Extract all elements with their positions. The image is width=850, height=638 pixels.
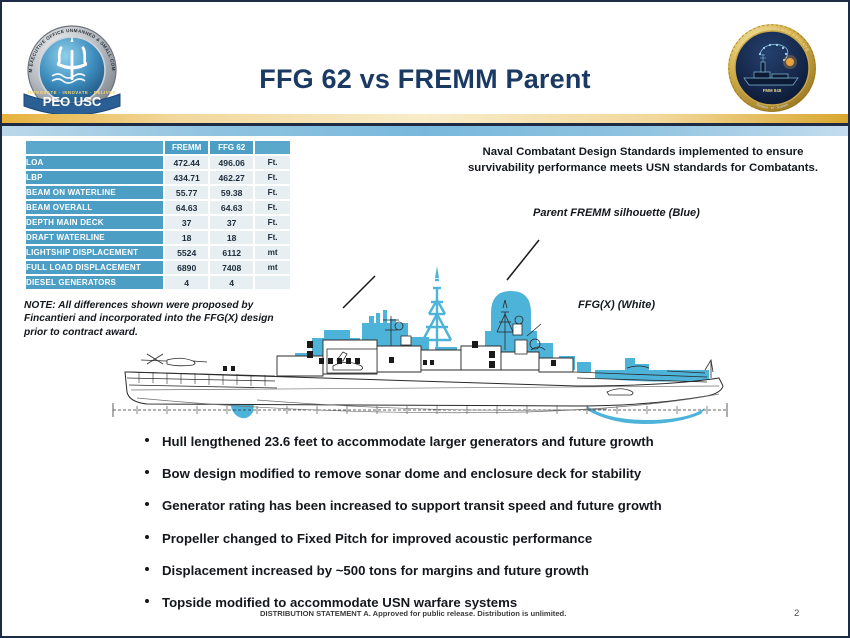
bullet-text: Hull lengthened 23.6 feet to accommodate… [162, 434, 654, 449]
row-unit: Ft. [255, 171, 290, 184]
row-label: LOA [26, 156, 163, 169]
row-fremm: 472.44 [165, 156, 208, 169]
bullet-dot-icon [145, 535, 149, 539]
table-header-ffg62: FFG 62 [210, 141, 253, 154]
bullet-dot-icon [145, 599, 149, 603]
table-header-blank [26, 141, 163, 154]
table-row: BEAM OVERALL 64.63 64.63 Ft. [26, 201, 290, 214]
row-ffg62: 496.06 [210, 156, 253, 169]
bullet-dot-icon [145, 502, 149, 506]
table-row: LOA 472.44 496.06 Ft. [26, 156, 290, 169]
table-header-row: FREMM FFG 62 [26, 141, 290, 154]
row-ffg62: 59.38 [210, 186, 253, 199]
boat-bay [327, 349, 377, 373]
bullet-item: Bow design modified to remove sonar dome… [142, 466, 742, 481]
slide-canvas: PROGRAM EXECUTIVE OFFICE UNMANNED & SMAL… [0, 0, 850, 638]
table-header-fremm: FREMM [165, 141, 208, 154]
row-fremm: 434.71 [165, 171, 208, 184]
bullet-dot-icon [145, 470, 149, 474]
bullet-list: Hull lengthened 23.6 feet to accommodate… [142, 434, 742, 627]
table-row: LBP 434.71 462.27 Ft. [26, 171, 290, 184]
slide-header: PROGRAM EXECUTIVE OFFICE UNMANNED & SMAL… [2, 2, 848, 110]
bullet-text: Generator rating has been increased to s… [162, 498, 662, 513]
row-label: BEAM ON WATERLINE [26, 186, 163, 199]
bullet-text: Topside modified to accommodate USN warf… [162, 595, 517, 610]
row-label: BEAM OVERALL [26, 201, 163, 214]
distribution-statement: DISTRIBUTION STATEMENT A. Approved for p… [260, 609, 680, 618]
table-row: BEAM ON WATERLINE 55.77 59.38 Ft. [26, 186, 290, 199]
row-unit: Ft. [255, 186, 290, 199]
helicopter-icon [141, 354, 207, 366]
blue-divider-band [2, 126, 848, 136]
row-ffg62: 64.63 [210, 201, 253, 214]
svg-text:PEO USC: PEO USC [43, 94, 102, 109]
row-unit: Ft. [255, 156, 290, 169]
callout-ffgx-label: FFG(X) (White) [578, 299, 655, 311]
row-unit: Ft. [255, 201, 290, 214]
bullet-item: Displacement increased by ~500 tons for … [142, 563, 742, 578]
row-fremm: 55.77 [165, 186, 208, 199]
page-title: FFG 62 vs FREMM Parent [2, 64, 848, 95]
gold-divider-band [2, 114, 848, 123]
bullet-dot-icon [145, 567, 149, 571]
row-label: LBP [26, 171, 163, 184]
bullet-text: Propeller changed to Fixed Pitch for imp… [162, 531, 592, 546]
page-number: 2 [794, 608, 799, 619]
bullet-text: Displacement increased by ~500 tons for … [162, 563, 589, 578]
row-ffg62: 462.27 [210, 171, 253, 184]
bullet-item: Generator rating has been increased to s… [142, 498, 742, 513]
bullet-item: Hull lengthened 23.6 feet to accommodate… [142, 434, 742, 449]
bullet-dot-icon [145, 438, 149, 442]
ship-profile-illustration [107, 220, 732, 425]
bullet-item: Propeller changed to Fixed Pitch for imp… [142, 531, 742, 546]
callout-fremm-label: Parent FREMM silhouette (Blue) [533, 207, 700, 219]
row-fremm: 64.63 [165, 201, 208, 214]
bullet-text: Bow design modified to remove sonar dome… [162, 466, 641, 481]
table-header-unit [255, 141, 290, 154]
bullet-item: Topside modified to accommodate USN warf… [142, 595, 742, 610]
design-standards-note: Naval Combatant Design Standards impleme… [448, 144, 838, 176]
